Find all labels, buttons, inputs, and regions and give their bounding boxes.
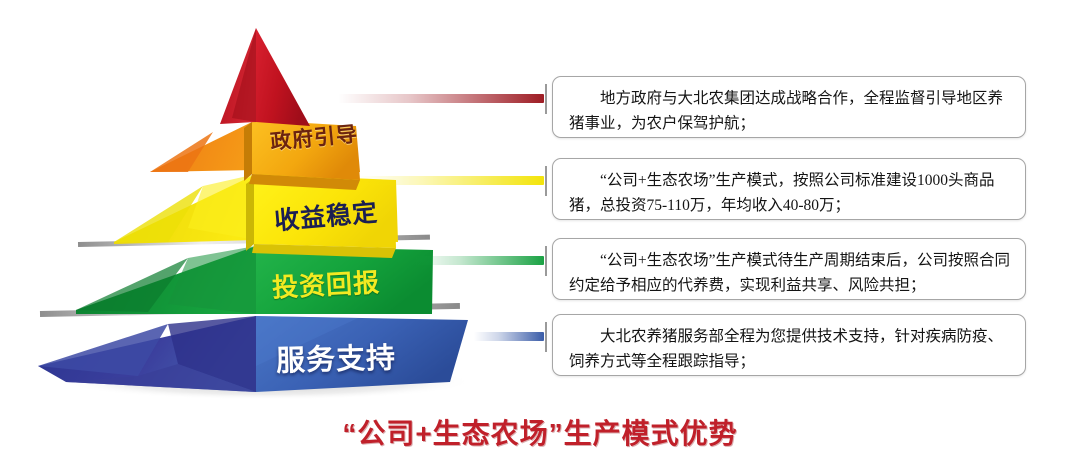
connector-line-service <box>474 332 544 341</box>
connector-tick-return <box>545 246 547 276</box>
tier-2-slab-left <box>246 178 254 251</box>
callout-box-government: 地方政府与大北农集团达成战略合作，全程监督引导地区养猪事业，为农户保驾护航； <box>552 76 1026 138</box>
page-title: “公司+生态农场”生产模式优势 <box>0 412 1080 452</box>
connector-tick-government <box>545 84 547 114</box>
apex-right-face <box>256 28 310 126</box>
connector-line-income <box>358 176 544 185</box>
callout-box-service: 大北农养猪服务部全程为您提供技术支持，针对疾病防疫、饲养方式等全程跟踪指导； <box>552 314 1026 376</box>
callout-box-income: “公司+生态农场”生产模式，按照公司标准建设1000头商品猪，总投资75-110… <box>552 158 1026 220</box>
connector-line-return <box>414 256 544 265</box>
connector-tick-service <box>545 322 547 352</box>
callout-box-return: “公司+生态农场”生产模式待生产周期结束后，公司按照合同约定给予相应的代养费，实… <box>552 238 1026 300</box>
tier-3-facet-b <box>168 246 256 314</box>
diagram-canvas: 政府引导 收益稳定 投资回报 服务支持 地方政府与大北农集团达成战略合作，全程监… <box>0 0 1080 468</box>
connector-line-government <box>338 94 544 103</box>
tier-1-front-slab <box>252 122 360 180</box>
apex-facet <box>232 28 256 122</box>
pyramid-graphic: 政府引导 收益稳定 投资回报 服务支持 <box>18 14 538 404</box>
pyramid-svg <box>18 14 538 404</box>
connector-tick-income <box>545 166 547 196</box>
tier-2-front-slab <box>254 178 396 248</box>
tier-1-slab-left <box>244 122 252 181</box>
